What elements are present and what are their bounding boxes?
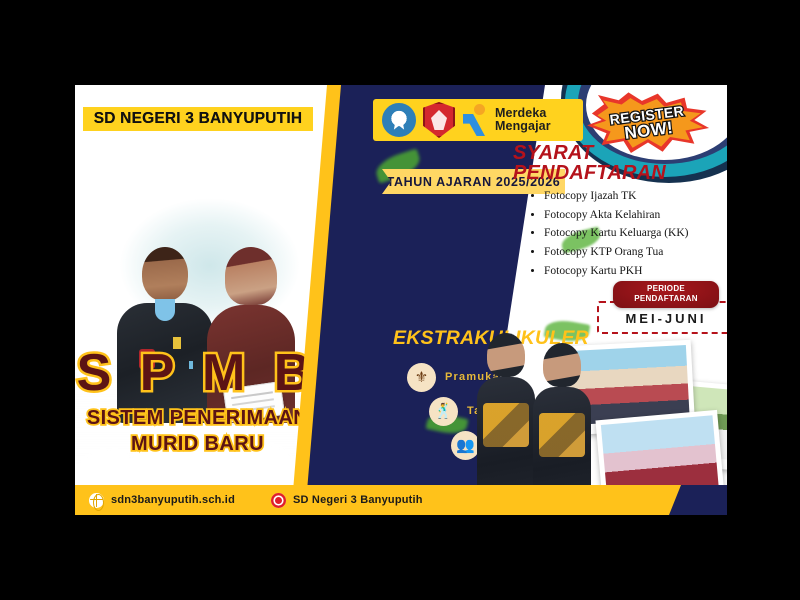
main-title-block: S P M B SISTEM PENERIMAAN MURID BARU	[75, 347, 320, 456]
merdeka-dot	[474, 104, 485, 115]
requirement-item: Fotocopy Ijazah TK	[544, 187, 688, 206]
partner-logo-strip: Merdeka Mengajar	[373, 99, 583, 141]
requirements-list: Fotocopy Ijazah TK Fotocopy Akta Kelahir…	[530, 187, 688, 280]
boy-head	[142, 247, 188, 301]
period-badge-line2: PENDAFTARAN	[617, 294, 715, 304]
requirement-item: Fotocopy KTP Orang Tua	[544, 243, 688, 262]
traditional-dance-icon: 🕺	[429, 397, 458, 426]
period-badge-line1: PERIODE	[617, 284, 715, 294]
spmb-acronym: S P M B	[75, 347, 320, 399]
register-line-2: NOW!	[624, 120, 675, 143]
footer-instagram[interactable]: SD Negeri 3 Banyuputih	[293, 494, 423, 506]
requirement-item: Fotocopy Kartu PKH	[544, 262, 688, 281]
school-name-banner: SD NEGERI 3 BANYUPUTIH	[83, 107, 313, 131]
registration-period-value: MEI-JUNI	[625, 311, 706, 326]
regional-emblem-logo-icon	[423, 102, 455, 138]
tutwuri-handayani-logo-icon	[382, 103, 416, 137]
screenshot-canvas: SD NEGERI 3 BANYUPUTIH S P M B SISTEM PE…	[0, 0, 800, 600]
registration-period-block: PERIODE PENDAFTARAN MEI-JUNI	[597, 281, 727, 334]
requirement-item: Fotocopy Kartu Keluarga (KK)	[544, 224, 688, 243]
spmb-expansion-line1: SISTEM PENERIMAAN	[75, 407, 320, 430]
spmb-expansion-line2: MURID BARU	[75, 433, 320, 456]
merdeka-mengajar-label: Merdeka Mengajar	[495, 107, 551, 133]
girl-right-head	[543, 343, 581, 387]
globe-icon	[89, 493, 104, 508]
spmb-registration-poster: SD NEGERI 3 BANYUPUTIH S P M B SISTEM PE…	[75, 85, 727, 515]
register-now-badge[interactable]: REGISTER NOW!	[587, 91, 709, 157]
scout-badge-icon: ⚜	[407, 363, 436, 392]
merdeka-mengajar-logo-icon	[462, 104, 488, 136]
footer-contact-strip: sdn3banyuputih.sch.id SD Negeri 3 Banyup…	[75, 485, 687, 515]
merdeka-line-2: Mengajar	[495, 120, 551, 133]
registration-period-badge: PERIODE PENDAFTARAN	[613, 281, 719, 308]
girl-left-head	[487, 333, 525, 377]
footer-website[interactable]: sdn3banyuputih.sch.id	[111, 494, 235, 506]
merdeka-swoosh	[463, 114, 485, 136]
register-now-text: REGISTER NOW!	[583, 85, 712, 164]
requirements-heading-line2: PENDAFTARAN	[513, 163, 666, 183]
girl-head-hijab	[225, 247, 277, 305]
footer-bar: sdn3banyuputih.sch.id SD Negeri 3 Banyup…	[75, 485, 727, 515]
instagram-icon	[271, 493, 286, 508]
requirement-item: Fotocopy Akta Kelahiran	[544, 206, 688, 225]
